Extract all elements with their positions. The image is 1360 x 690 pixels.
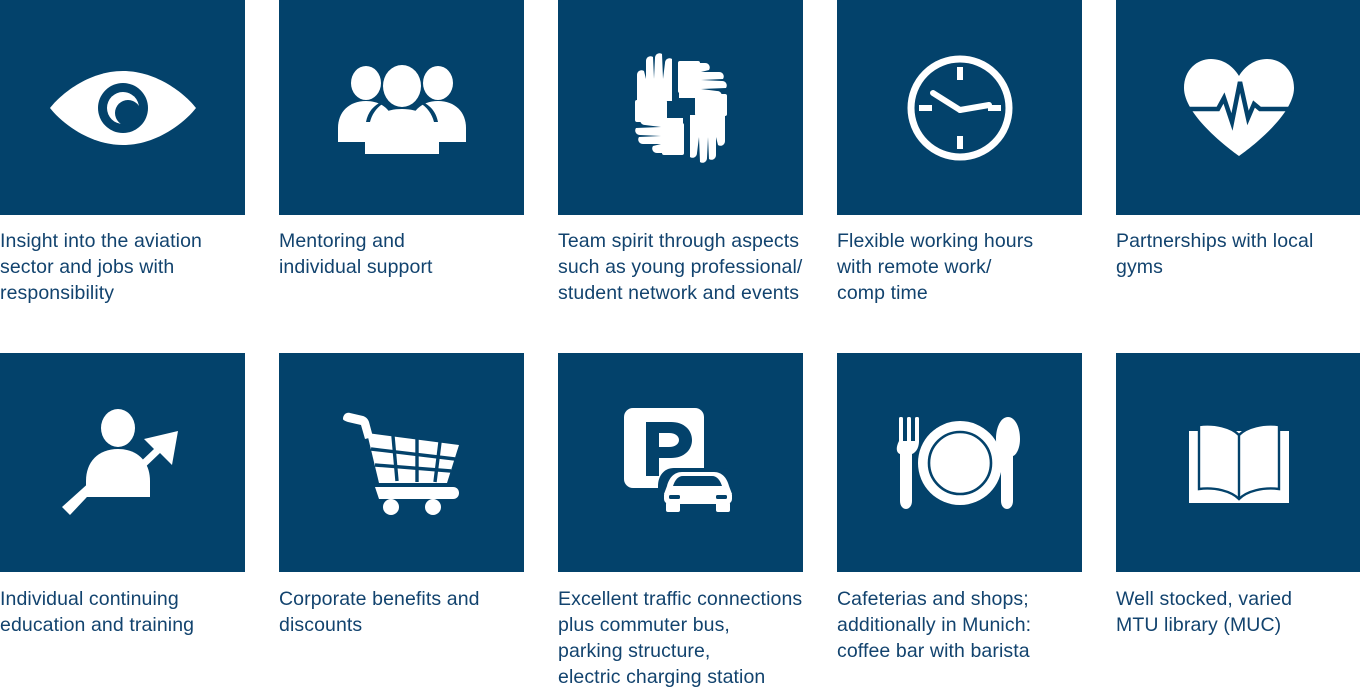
benefit-caption: Well stocked, varied MTU library (MUC) — [1116, 586, 1360, 638]
icon-tile — [279, 0, 524, 215]
people-group-icon — [336, 60, 468, 156]
benefit-card-mentoring: Mentoring and individual support — [279, 0, 524, 353]
benefit-caption: Team spirit through aspects such as youn… — [558, 228, 803, 306]
open-book-icon — [1189, 423, 1289, 503]
icon-tile — [837, 0, 1082, 215]
icon-tile — [0, 353, 245, 572]
clock-icon — [905, 53, 1015, 163]
benefits-grid: Insight into the aviation sector and job… — [0, 0, 1360, 688]
benefit-caption: Cafeterias and shops; additionally in Mu… — [837, 586, 1082, 664]
benefit-card-team-spirit: Team spirit through aspects such as youn… — [558, 0, 803, 353]
shopping-cart-icon — [341, 411, 463, 515]
heart-pulse-icon — [1180, 56, 1298, 160]
benefit-card-gyms: Partnerships with local gyms — [1116, 0, 1360, 353]
benefit-card-corporate-benefits: Corporate benefits and discounts — [279, 353, 524, 688]
icon-tile — [1116, 0, 1360, 215]
icon-tile — [558, 0, 803, 215]
benefit-card-traffic: Excellent traffic connections plus commu… — [558, 353, 803, 688]
parking-car-icon — [622, 406, 740, 520]
benefit-caption: Corporate benefits and discounts — [279, 586, 524, 638]
benefit-card-library: Well stocked, varied MTU library (MUC) — [1116, 353, 1360, 688]
benefit-caption: Partnerships with local gyms — [1116, 228, 1360, 280]
icon-tile — [279, 353, 524, 572]
person-growth-arrow-icon — [56, 407, 190, 519]
icon-tile — [0, 0, 245, 215]
benefit-card-eye: Insight into the aviation sector and job… — [0, 0, 245, 353]
eye-icon — [48, 65, 198, 151]
plate-cutlery-icon — [896, 415, 1024, 511]
icon-tile — [1116, 353, 1360, 572]
benefit-card-education: Individual continuing education and trai… — [0, 353, 245, 688]
benefit-caption: Individual continuing education and trai… — [0, 586, 245, 638]
icon-tile — [837, 353, 1082, 572]
benefit-caption: Insight into the aviation sector and job… — [0, 228, 245, 306]
teamwork-hands-icon — [621, 45, 741, 171]
benefit-caption: Mentoring and individual support — [279, 228, 524, 280]
benefit-card-flexible-hours: Flexible working hours with remote work/… — [837, 0, 1082, 353]
icon-tile — [558, 353, 803, 572]
benefit-caption: Excellent traffic connections plus commu… — [558, 586, 803, 690]
benefit-caption: Flexible working hours with remote work/… — [837, 228, 1082, 306]
benefit-card-cafeteria: Cafeterias and shops; additionally in Mu… — [837, 353, 1082, 688]
